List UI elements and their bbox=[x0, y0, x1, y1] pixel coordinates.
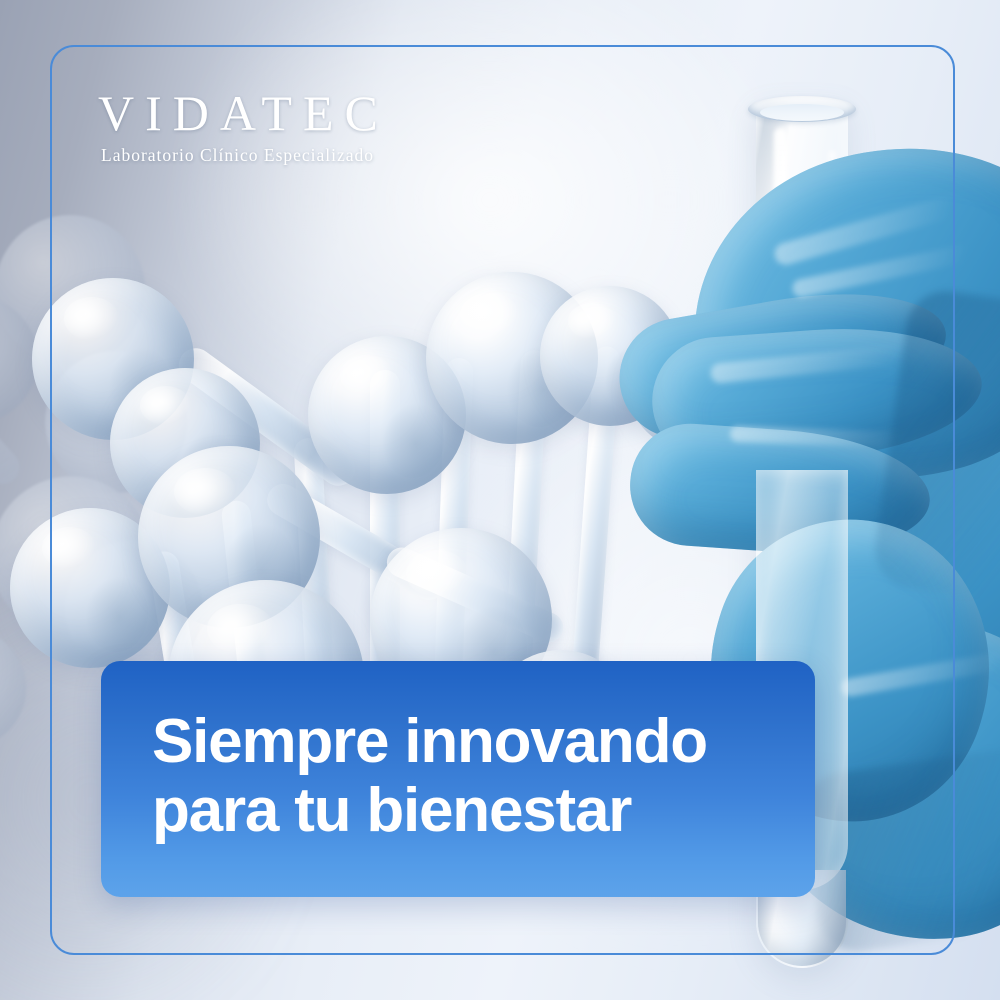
dna-sphere bbox=[308, 336, 466, 494]
glove-wrinkle bbox=[772, 175, 1000, 268]
brand-tagline: Laboratorio Clínico Especializado bbox=[101, 145, 389, 166]
headline-text: Siempre innovando para tu bienestar bbox=[152, 707, 707, 845]
glove-wrinkle bbox=[710, 336, 981, 384]
dna-sphere bbox=[138, 446, 320, 628]
brand-logo: VIDATEC Laboratorio Clínico Especializad… bbox=[98, 88, 389, 166]
glove-palm bbox=[658, 107, 1000, 524]
test-tube-rim bbox=[748, 96, 856, 122]
test-tube-highlight bbox=[828, 150, 836, 810]
dna-rod-diagonal bbox=[261, 478, 450, 606]
dna-sphere bbox=[540, 286, 680, 426]
test-tube-rim-inner bbox=[760, 104, 844, 121]
glove-finger bbox=[648, 319, 986, 470]
glove-wrinkle bbox=[730, 426, 970, 450]
promotional-poster: VIDATEC Laboratorio Clínico Especializad… bbox=[0, 0, 1000, 1000]
dna-sphere bbox=[10, 508, 170, 668]
glove-finger bbox=[610, 272, 956, 447]
dna-sphere bbox=[110, 368, 260, 518]
brand-name: VIDATEC bbox=[98, 88, 389, 138]
dna-sphere bbox=[628, 324, 754, 450]
glove-wrinkle bbox=[840, 640, 1000, 698]
dna-rod-diagonal bbox=[172, 342, 362, 493]
dna-sphere bbox=[426, 272, 598, 444]
glove-wrinkle bbox=[791, 229, 1000, 299]
glove-shadow bbox=[799, 743, 1000, 956]
headline-banner: Siempre innovando para tu bienestar bbox=[101, 661, 815, 897]
dna-rod-diagonal bbox=[382, 543, 568, 648]
light-bloom bbox=[180, 0, 800, 460]
glove-wrist bbox=[831, 188, 1000, 772]
dna-sphere bbox=[32, 278, 194, 440]
glove-shadow bbox=[870, 286, 1000, 614]
glove-finger bbox=[626, 420, 934, 563]
